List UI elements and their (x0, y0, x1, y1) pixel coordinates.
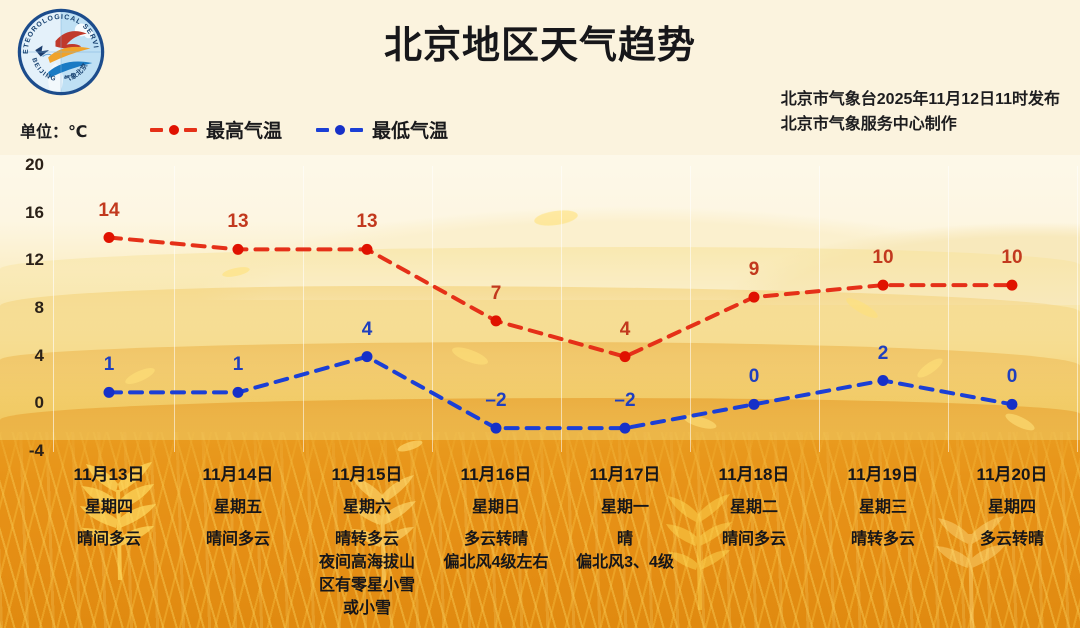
day-description-line: 夜间高海拔山 (303, 551, 431, 574)
day-description: 晴间多云 (690, 528, 818, 551)
data-point-label: 10 (872, 247, 893, 269)
day-weekday: 星期一 (561, 496, 689, 520)
data-point-label: 1 (104, 354, 115, 376)
day-date: 11月20日 (948, 462, 1076, 488)
data-point-label: 13 (227, 211, 248, 233)
weather-trend-chart: METEOROLOGICAL SERVICE BEIJING 气象北京 北京地区… (0, 0, 1080, 628)
data-point-label: 13 (356, 211, 377, 233)
data-point-marker (233, 387, 244, 398)
data-point-marker (620, 351, 631, 362)
data-point-label: 4 (620, 319, 631, 341)
day-date: 11月16日 (432, 462, 560, 488)
day-weekday: 星期日 (432, 496, 560, 520)
day-description: 晴偏北风3、4级 (561, 528, 689, 574)
day-weekday: 星期五 (174, 496, 302, 520)
data-point-marker (491, 423, 502, 434)
day-description-line: 晴间多云 (174, 528, 302, 551)
day-description: 多云转晴 (948, 528, 1076, 551)
data-point-marker (878, 375, 889, 386)
data-point-marker (362, 351, 373, 362)
day-weekday: 星期二 (690, 496, 818, 520)
day-date: 11月15日 (303, 462, 431, 488)
data-point-label: 2 (878, 343, 889, 365)
data-point-marker (104, 387, 115, 398)
day-description: 晴间多云 (45, 528, 173, 551)
data-point-marker (491, 315, 502, 326)
day-description: 晴间多云 (174, 528, 302, 551)
day-description: 多云转晴偏北风4级左右 (432, 528, 560, 574)
day-description-line: 多云转晴 (432, 528, 560, 551)
day-description-line: 偏北风3、4级 (561, 551, 689, 574)
data-point-label: 10 (1001, 247, 1022, 269)
day-weekday: 星期四 (948, 496, 1076, 520)
day-description-line: 晴 (561, 528, 689, 551)
day-description-line: 晴转多云 (819, 528, 947, 551)
day-column[interactable]: 11月16日星期日多云转晴偏北风4级左右 (432, 462, 560, 574)
data-point-label: 0 (749, 366, 760, 388)
data-point-marker (749, 292, 760, 303)
data-point-marker (878, 280, 889, 291)
day-description: 晴转多云夜间高海拔山区有零星小雪或小雪 (303, 528, 431, 621)
day-date: 11月19日 (819, 462, 947, 488)
day-date: 11月17日 (561, 462, 689, 488)
data-point-label: 0 (1007, 366, 1018, 388)
data-point-label: 9 (749, 259, 760, 281)
day-date: 11月14日 (174, 462, 302, 488)
day-description-line: 晴转多云 (303, 528, 431, 551)
day-column[interactable]: 11月18日星期二晴间多云 (690, 462, 818, 551)
data-point-marker (1007, 280, 1018, 291)
day-description-line: 或小雪 (303, 597, 431, 620)
data-point-label: 7 (491, 283, 502, 305)
data-point-marker (620, 423, 631, 434)
day-description-line: 区有零星小雪 (303, 574, 431, 597)
day-column[interactable]: 11月13日星期四晴间多云 (45, 462, 173, 551)
day-column[interactable]: 11月15日星期六晴转多云夜间高海拔山区有零星小雪或小雪 (303, 462, 431, 620)
day-description-line: 晴间多云 (45, 528, 173, 551)
day-weekday: 星期六 (303, 496, 431, 520)
data-point-label: 4 (362, 319, 373, 341)
day-description-line: 偏北风4级左右 (432, 551, 560, 574)
day-weekday: 星期三 (819, 496, 947, 520)
day-column[interactable]: 11月19日星期三晴转多云 (819, 462, 947, 551)
day-weekday: 星期四 (45, 496, 173, 520)
day-column[interactable]: 11月17日星期一晴偏北风3、4级 (561, 462, 689, 574)
day-column[interactable]: 11月20日星期四多云转晴 (948, 462, 1076, 551)
day-description-line: 晴间多云 (690, 528, 818, 551)
day-description: 晴转多云 (819, 528, 947, 551)
data-point-marker (233, 244, 244, 255)
data-point-marker (104, 232, 115, 243)
day-column[interactable]: 11月14日星期五晴间多云 (174, 462, 302, 551)
data-point-marker (1007, 399, 1018, 410)
data-point-label: 14 (98, 200, 119, 222)
day-date: 11月13日 (45, 462, 173, 488)
day-description-line: 多云转晴 (948, 528, 1076, 551)
data-point-label: –2 (614, 390, 635, 412)
data-point-marker (749, 399, 760, 410)
data-point-marker (362, 244, 373, 255)
day-date: 11月18日 (690, 462, 818, 488)
data-point-label: 1 (233, 354, 244, 376)
series-line (109, 357, 1012, 429)
data-point-label: –2 (485, 390, 506, 412)
